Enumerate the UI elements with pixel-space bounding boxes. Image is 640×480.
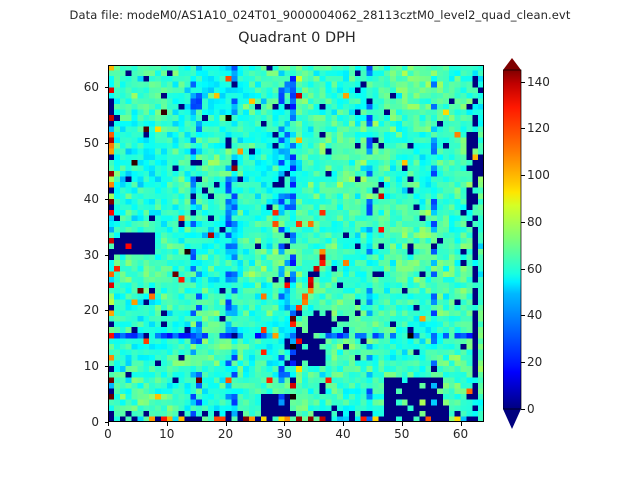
- y-tick-label: 0: [91, 415, 99, 429]
- colorbar-tick-label: 40: [527, 308, 542, 322]
- x-tick-label: 0: [104, 427, 112, 441]
- colorbar-tick-mark: [521, 175, 525, 176]
- y-tick-mark: [105, 87, 109, 88]
- x-tick-mark: [167, 422, 168, 426]
- y-tick-mark: [105, 366, 109, 367]
- y-tick-label: 30: [84, 248, 99, 262]
- x-tick-label: 60: [453, 427, 468, 441]
- x-tick-mark: [284, 422, 285, 426]
- colorbar-tick-label: 120: [527, 121, 550, 135]
- colorbar[interactable]: [503, 58, 539, 430]
- colorbar-tick-mark: [521, 315, 525, 316]
- x-tick-mark: [402, 422, 403, 426]
- x-tick-label: 50: [394, 427, 409, 441]
- x-tick-label: 20: [218, 427, 233, 441]
- colorbar-tick-mark: [521, 82, 525, 83]
- colorbar-tick-mark: [521, 222, 525, 223]
- matplotlib-figure: Data file: modeM0/AS1A10_024T01_90000040…: [0, 0, 640, 480]
- y-tick-mark: [105, 255, 109, 256]
- heatmap-axes[interactable]: [108, 65, 484, 422]
- x-tick-mark: [108, 422, 109, 426]
- y-tick-label: 20: [84, 303, 99, 317]
- y-tick-mark: [105, 310, 109, 311]
- x-tick-label: 30: [277, 427, 292, 441]
- detector-heatmap-image[interactable]: [108, 65, 484, 422]
- y-tick-mark: [105, 143, 109, 144]
- data-file-suptitle: Data file: modeM0/AS1A10_024T01_90000040…: [0, 8, 640, 22]
- y-tick-mark: [105, 199, 109, 200]
- colorbar-tick-label: 0: [527, 402, 535, 416]
- page-title: Quadrant 0 DPH: [0, 30, 594, 46]
- colorbar-tick-label: 20: [527, 355, 542, 369]
- colorbar-tick-label: 140: [527, 75, 550, 89]
- x-tick-mark: [226, 422, 227, 426]
- colorbar-tick-mark: [521, 362, 525, 363]
- y-tick-mark: [105, 422, 109, 423]
- y-tick-label: 60: [84, 80, 99, 94]
- y-tick-label: 50: [84, 136, 99, 150]
- colorbar-tick-mark: [521, 269, 525, 270]
- colorbar-tick-label: 60: [527, 262, 542, 276]
- colorbar-gradient: [503, 58, 539, 430]
- x-tick-mark: [461, 422, 462, 426]
- x-tick-label: 10: [159, 427, 174, 441]
- x-tick-mark: [343, 422, 344, 426]
- y-tick-label: 40: [84, 192, 99, 206]
- colorbar-tick-label: 80: [527, 215, 542, 229]
- colorbar-tick-mark: [521, 128, 525, 129]
- x-tick-label: 40: [335, 427, 350, 441]
- colorbar-tick-label: 100: [527, 168, 550, 182]
- colorbar-tick-mark: [521, 409, 525, 410]
- y-tick-label: 10: [84, 359, 99, 373]
